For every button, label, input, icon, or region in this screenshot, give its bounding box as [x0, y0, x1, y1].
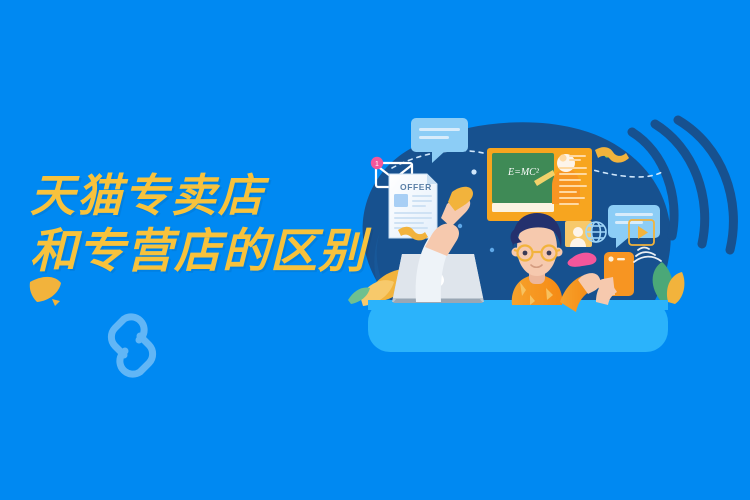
svg-text:OFFER: OFFER [400, 182, 432, 192]
svg-text:1: 1 [375, 161, 379, 168]
formula-text: E=MC² [507, 167, 540, 178]
dot-accent [490, 248, 494, 252]
banner-illustration-canvas: 1 OFFER E=MC² [0, 0, 750, 500]
dot-accent [471, 169, 476, 174]
desk-base [368, 300, 668, 352]
offer-document: OFFER [389, 174, 437, 238]
dot-accent [458, 224, 462, 228]
blackboard-card: E=MC² [487, 148, 592, 221]
